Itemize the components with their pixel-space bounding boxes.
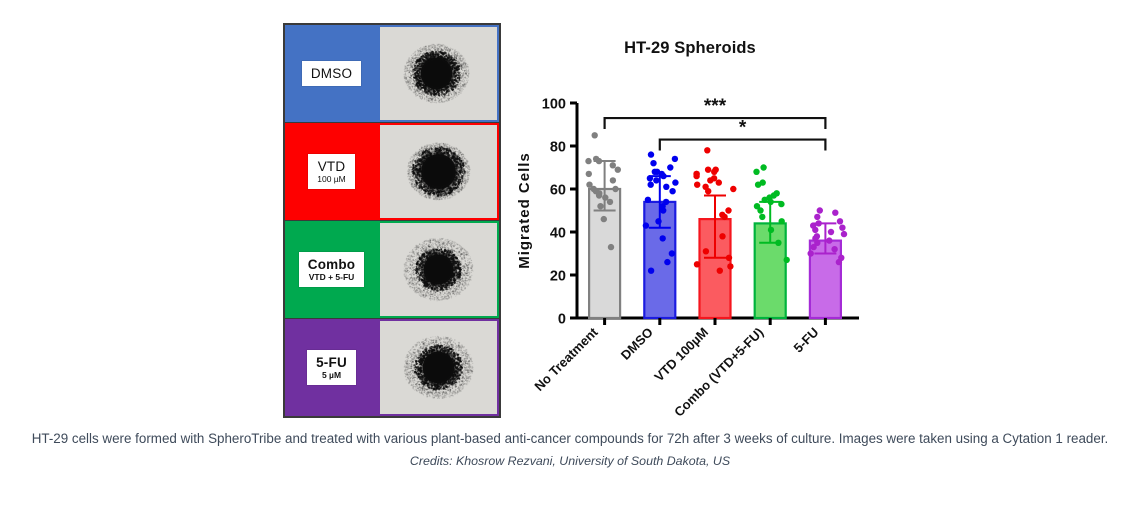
significance-bracket: [660, 140, 826, 151]
caption-text: HT-29 cells were formed with SpheroTribe…: [0, 428, 1140, 450]
condition-dose: VTD + 5-FU: [308, 273, 356, 283]
bar-chart: HT-29 Spheroids 020406080100Migrated Cel…: [505, 25, 875, 425]
micrograph-image: [380, 125, 497, 218]
spheroid-micrograph: [378, 221, 499, 318]
condition-label: VTD100 µM: [308, 154, 355, 190]
condition-label: 5-FU5 µM: [307, 350, 356, 386]
significance-label: ***: [704, 96, 727, 117]
condition-color-swatch: VTD100 µM: [285, 123, 378, 220]
y-axis-tick-label: 40: [550, 226, 566, 242]
condition-dose: 5 µM: [316, 371, 347, 381]
y-axis-title: Migrated Cells: [516, 152, 533, 269]
condition-color-swatch: ComboVTD + 5-FU: [285, 221, 378, 318]
micrograph-image: [380, 27, 497, 120]
montage-row: VTD100 µM: [285, 123, 499, 221]
y-axis-tick-label: 0: [558, 312, 566, 328]
micrograph-image: [380, 321, 497, 414]
condition-label: DMSO: [302, 61, 361, 86]
caption-credits: Credits: Khosrow Rezvani, University of …: [0, 454, 1140, 468]
condition-name: Combo: [308, 257, 356, 272]
condition-name: 5-FU: [316, 355, 347, 370]
spheroid-micrograph: [378, 123, 499, 220]
condition-color-swatch: 5-FU5 µM: [285, 319, 378, 416]
y-axis-tick-label: 60: [550, 183, 566, 199]
condition-dose: 100 µM: [317, 175, 346, 185]
figure-row: DMSOVTD100 µMComboVTD + 5-FU5-FU5 µM HT-…: [0, 0, 1140, 425]
spheroid-micrograph: [378, 25, 499, 122]
y-axis-tick-label: 100: [542, 97, 566, 113]
montage-row: DMSO: [285, 25, 499, 123]
x-axis-tick-label: VTD 100µM: [651, 325, 711, 385]
significance-bracket: [605, 118, 826, 129]
significance-label: *: [739, 118, 747, 139]
y-axis-tick-label: 80: [550, 140, 566, 156]
y-axis-tick-label: 20: [550, 269, 566, 285]
condition-label: ComboVTD + 5-FU: [299, 252, 365, 288]
figure-caption-block: HT-29 cells were formed with SpheroTribe…: [0, 428, 1140, 468]
condition-name: VTD: [317, 159, 346, 174]
condition-color-swatch: DMSO: [285, 25, 378, 122]
condition-name: DMSO: [311, 66, 352, 81]
chart-plot-area: 020406080100Migrated CellsNo TreatmentDM…: [505, 25, 875, 425]
montage-row: ComboVTD + 5-FU: [285, 221, 499, 319]
spheroid-micrograph: [378, 319, 499, 416]
x-axis-tick-label: DMSO: [618, 325, 656, 363]
micrograph-image: [380, 223, 497, 316]
spheroid-image-montage: DMSOVTD100 µMComboVTD + 5-FU5-FU5 µM: [283, 23, 501, 418]
x-axis-tick-label: No Treatment: [531, 324, 601, 394]
montage-row: 5-FU5 µM: [285, 319, 499, 416]
x-axis-tick-label: 5-FU: [790, 325, 821, 356]
